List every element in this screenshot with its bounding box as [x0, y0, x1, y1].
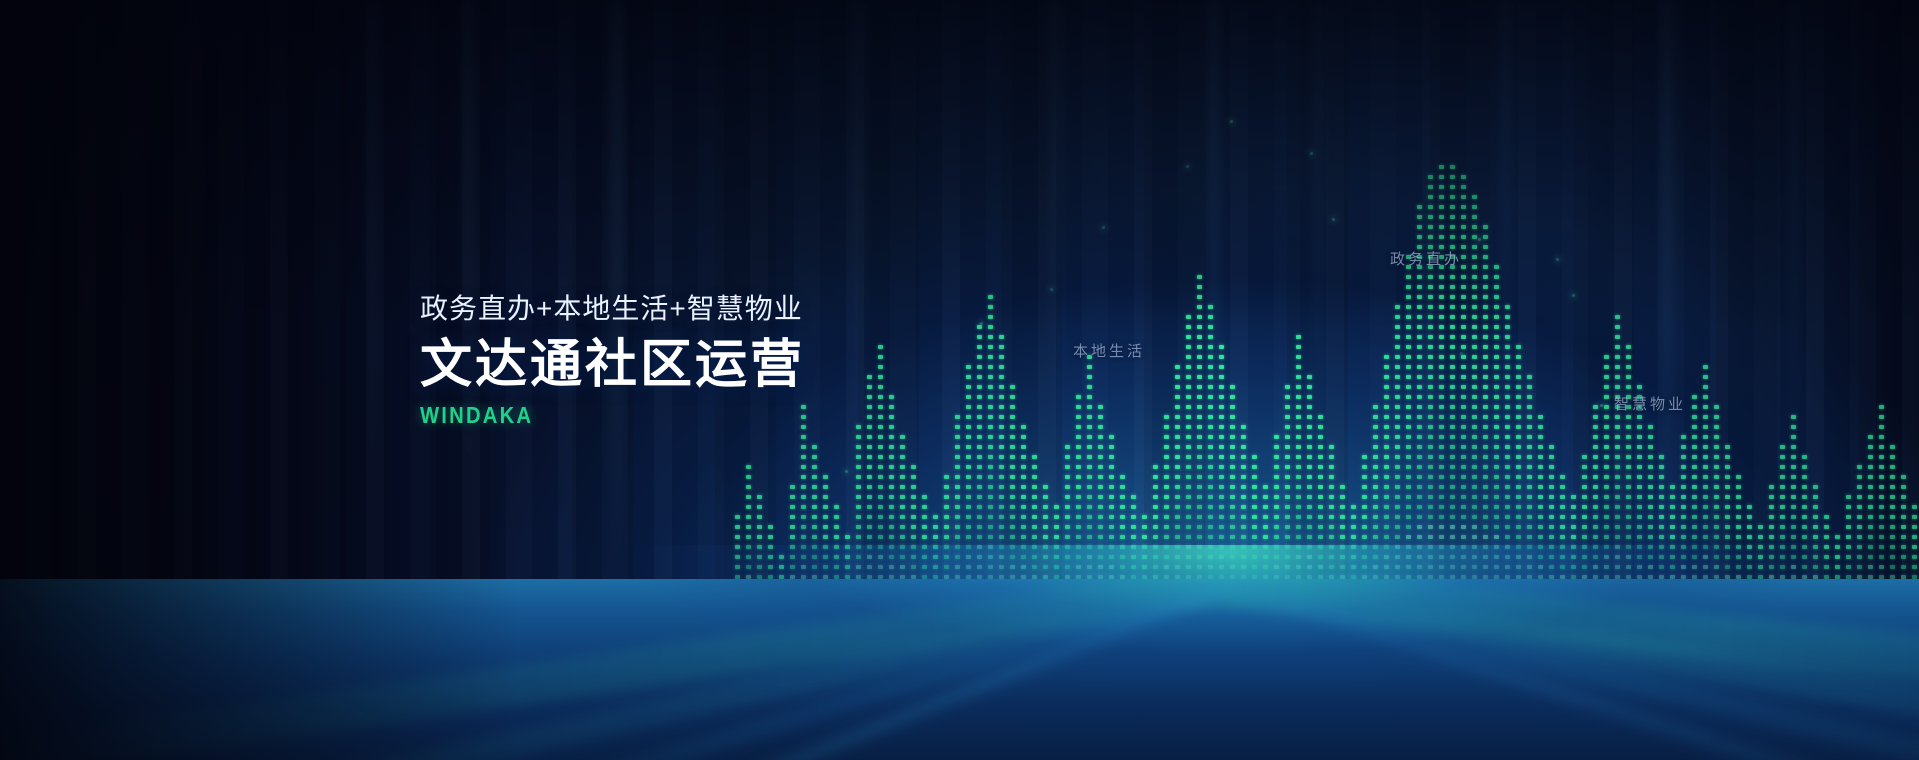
skyline-dot [1010, 475, 1015, 479]
skyline-column [911, 0, 916, 605]
skyline-dot [1604, 395, 1609, 399]
skyline-dot [1791, 515, 1796, 519]
skyline-dot [1846, 505, 1851, 509]
skyline-dot [1032, 515, 1037, 519]
skyline-dot [1439, 275, 1444, 279]
skyline-dot [856, 435, 861, 439]
skyline-dot [856, 465, 861, 469]
skyline-dot [1571, 505, 1576, 509]
skyline-dot [1670, 495, 1675, 499]
skyline-dot [1505, 445, 1510, 449]
skyline-dot [1439, 425, 1444, 429]
skyline-dot [1296, 425, 1301, 429]
skyline-dot [1604, 525, 1609, 529]
skyline-dot [867, 425, 872, 429]
skyline-dot [1065, 465, 1070, 469]
skyline-dot [1714, 445, 1719, 449]
skyline-dot [988, 505, 993, 509]
skyline-dot [1208, 355, 1213, 359]
skyline-dot [1780, 455, 1785, 459]
skyline-dot [1494, 375, 1499, 379]
skyline-column [1483, 0, 1488, 605]
skyline-dot [1846, 495, 1851, 499]
skyline-dot [1637, 415, 1642, 419]
skyline-dot [1472, 235, 1477, 239]
skyline-dot [1219, 375, 1224, 379]
skyline-dot [1098, 405, 1103, 409]
skyline-dot [1087, 375, 1092, 379]
skyline-dot [1164, 445, 1169, 449]
skyline-dot [1373, 525, 1378, 529]
skyline-dot [1802, 525, 1807, 529]
skyline-dot [1362, 485, 1367, 489]
skyline-dot [790, 525, 795, 529]
skyline-dot [1439, 385, 1444, 389]
skyline-dot [1538, 525, 1543, 529]
skyline-dot [900, 485, 905, 489]
skyline-dot [1505, 475, 1510, 479]
skyline-dot [1021, 515, 1026, 519]
skyline-dot [1461, 205, 1466, 209]
skyline-dot [1395, 315, 1400, 319]
skyline-dot [1197, 415, 1202, 419]
skyline-dot [1318, 525, 1323, 529]
skyline-dot [1296, 415, 1301, 419]
skyline-dot [1417, 515, 1422, 519]
skyline-dot [1197, 455, 1202, 459]
skyline-dot [1615, 315, 1620, 319]
skyline-dot [1428, 205, 1433, 209]
skyline-dot [1604, 405, 1609, 409]
skyline-dot [1428, 315, 1433, 319]
skyline-dot [1692, 475, 1697, 479]
skyline-dot [1714, 425, 1719, 429]
skyline-dot [1439, 525, 1444, 529]
skyline-dot [1461, 195, 1466, 199]
skyline-dot [1373, 495, 1378, 499]
skyline-dot [1703, 525, 1708, 529]
skyline-dot [1109, 435, 1114, 439]
skyline-dot [1428, 475, 1433, 479]
skyline-dot [1758, 525, 1763, 529]
skyline-dot [1461, 405, 1466, 409]
skyline-dot [1736, 475, 1741, 479]
skyline-dot [735, 535, 740, 539]
skyline-column [1758, 0, 1763, 605]
skyline-dot [1494, 475, 1499, 479]
skyline-dot [1428, 485, 1433, 489]
skyline-dot [1637, 475, 1642, 479]
skyline-dot [1417, 225, 1422, 229]
skyline-dot [1153, 465, 1158, 469]
skyline-dot [1197, 445, 1202, 449]
skyline-dot [1417, 485, 1422, 489]
skyline-dot [1197, 365, 1202, 369]
skyline-dot [812, 535, 817, 539]
skyline-dot [1901, 505, 1906, 509]
skyline-dot [1219, 385, 1224, 389]
sparkle-particle [1572, 294, 1575, 297]
skyline-dot [1208, 445, 1213, 449]
skyline-dot [1472, 525, 1477, 529]
skyline-dot [1571, 495, 1576, 499]
skyline-dot [1692, 425, 1697, 429]
skyline-dot [1890, 485, 1895, 489]
skyline-dot [1219, 405, 1224, 409]
skyline-dot [1406, 375, 1411, 379]
skyline-dot [878, 455, 883, 459]
skyline-dot [867, 525, 872, 529]
skyline-dot [1538, 475, 1543, 479]
skyline-column [1879, 0, 1884, 605]
skyline-dot [790, 485, 795, 489]
skyline-dot [1208, 485, 1213, 489]
skyline-dot [1879, 485, 1884, 489]
skyline-dot [1241, 485, 1246, 489]
skyline-column [812, 0, 817, 605]
skyline-dot [1417, 435, 1422, 439]
skyline-dot [1637, 385, 1642, 389]
skyline-dot [1318, 505, 1323, 509]
skyline-dot [1142, 525, 1147, 529]
skyline-dot [1802, 535, 1807, 539]
skyline-dot [1252, 485, 1257, 489]
skyline-dot [1439, 165, 1444, 169]
skyline-dot [1637, 515, 1642, 519]
skyline-dot [1406, 335, 1411, 339]
skyline-dot [1703, 505, 1708, 509]
skyline-column [1428, 0, 1433, 605]
skyline-dot [1483, 265, 1488, 269]
skyline-dot [1439, 365, 1444, 369]
skyline-dot [1384, 495, 1389, 499]
skyline-dot [1780, 495, 1785, 499]
skyline-dot [1197, 435, 1202, 439]
skyline-column [1538, 0, 1543, 605]
floor-horizon-glow [0, 545, 1919, 760]
skyline-dot [856, 505, 861, 509]
skyline-dot [1626, 515, 1631, 519]
dot-skyline-chart [0, 0, 1919, 640]
skyline-dot [1472, 475, 1477, 479]
skyline-dot [1252, 475, 1257, 479]
skyline-dot [1219, 415, 1224, 419]
skyline-dot [1087, 525, 1092, 529]
skyline-dot [1197, 515, 1202, 519]
skyline-dot [1494, 305, 1499, 309]
skyline-dot [823, 525, 828, 529]
skyline-column [1604, 0, 1609, 605]
skyline-dot [1384, 475, 1389, 479]
skyline-dot [1120, 495, 1125, 499]
skyline-dot [1384, 485, 1389, 489]
skyline-dot [1879, 405, 1884, 409]
skyline-dot [1307, 465, 1312, 469]
skyline-dot [1395, 535, 1400, 539]
skyline-dot [1472, 385, 1477, 389]
skyline-dot [1747, 525, 1752, 529]
skyline-dot [1560, 485, 1565, 489]
skyline-dot [1648, 455, 1653, 459]
skyline-dot [1230, 475, 1235, 479]
skyline-dot [1593, 415, 1598, 419]
skyline-dot [1472, 275, 1477, 279]
skyline-dot [1142, 535, 1147, 539]
skyline-dot [1164, 455, 1169, 459]
skyline-dot [1505, 485, 1510, 489]
skyline-dot [1010, 395, 1015, 399]
skyline-dot [1296, 385, 1301, 389]
skyline-dot [1362, 455, 1367, 459]
skyline-column [834, 0, 839, 605]
skyline-dot [1450, 515, 1455, 519]
skyline-dot [1318, 475, 1323, 479]
skyline-dot [1307, 415, 1312, 419]
skyline-dot [1230, 425, 1235, 429]
skyline-column [1384, 0, 1389, 605]
skyline-dot [911, 535, 916, 539]
skyline-dot [1461, 275, 1466, 279]
skyline-dot [1857, 485, 1862, 489]
sparkle-particle [1478, 238, 1481, 241]
skyline-dot [1472, 515, 1477, 519]
skyline-dot [1395, 435, 1400, 439]
skyline-dot [911, 495, 916, 499]
skyline-dot [1692, 505, 1697, 509]
skyline-column [867, 0, 872, 605]
skyline-dot [1307, 405, 1312, 409]
skyline-dot [801, 495, 806, 499]
skyline-dot [966, 445, 971, 449]
skyline-dot [1395, 475, 1400, 479]
skyline-dot [999, 385, 1004, 389]
skyline-dot [1186, 475, 1191, 479]
skyline-dot [1296, 505, 1301, 509]
skyline-dot [1615, 475, 1620, 479]
skyline-dot [1450, 385, 1455, 389]
hero-headline: 文达通社区运营 [420, 336, 805, 394]
skyline-dot [1879, 425, 1884, 429]
sparkle-particle [980, 322, 983, 325]
skyline-column [1307, 0, 1312, 605]
skyline-dot [1076, 415, 1081, 419]
skyline-dot [1406, 535, 1411, 539]
skyline-dot [1670, 525, 1675, 529]
skyline-dot [1362, 515, 1367, 519]
skyline-dot [1043, 495, 1048, 499]
skyline-dot [1318, 415, 1323, 419]
sparkle-particle [1600, 404, 1603, 407]
skyline-dot [1714, 515, 1719, 519]
skyline-dot [1351, 535, 1356, 539]
skyline-dot [1120, 505, 1125, 509]
skyline-dot [1219, 395, 1224, 399]
skyline-dot [1241, 425, 1246, 429]
skyline-dot [1021, 505, 1026, 509]
skyline-dot [1736, 525, 1741, 529]
skyline-dot [1197, 335, 1202, 339]
skyline-dot [1879, 525, 1884, 529]
skyline-dot [1010, 455, 1015, 459]
skyline-dot [1681, 505, 1686, 509]
skyline-dot [1461, 175, 1466, 179]
skyline-dot [1571, 525, 1576, 529]
skyline-dot [1043, 535, 1048, 539]
skyline-dot [1208, 305, 1213, 309]
skyline-dot [900, 435, 905, 439]
skyline-dot [845, 535, 850, 539]
skyline-dot [988, 355, 993, 359]
skyline-dot [1428, 365, 1433, 369]
skyline-dot [1219, 455, 1224, 459]
skyline-dot [1483, 485, 1488, 489]
skyline-dot [944, 535, 949, 539]
skyline-dot [955, 535, 960, 539]
skyline-dot [1549, 525, 1554, 529]
skyline-dot [999, 425, 1004, 429]
skyline-dot [1076, 445, 1081, 449]
skyline-column [1835, 0, 1840, 605]
skyline-dot [1604, 485, 1609, 489]
skyline-dot [1439, 485, 1444, 489]
skyline-dot [1417, 495, 1422, 499]
skyline-dot [1395, 325, 1400, 329]
skyline-dot [1681, 445, 1686, 449]
skyline-dot [1604, 365, 1609, 369]
skyline-dot [988, 455, 993, 459]
skyline-dot [1615, 325, 1620, 329]
skyline-dot [1164, 465, 1169, 469]
skyline-dot [1527, 385, 1532, 389]
skyline-dot [1450, 505, 1455, 509]
skyline-dot [1802, 455, 1807, 459]
skyline-dot [1450, 335, 1455, 339]
skyline-dot [867, 465, 872, 469]
skyline-dot [1681, 465, 1686, 469]
skyline-dot [1417, 505, 1422, 509]
skyline-dot [1560, 535, 1565, 539]
skyline-dot [889, 475, 894, 479]
skyline-dot [1890, 495, 1895, 499]
skyline-column [1252, 0, 1257, 605]
skyline-dot [1439, 205, 1444, 209]
skyline-dot [1274, 435, 1279, 439]
skyline-dot [1626, 365, 1631, 369]
skyline-dot [1285, 445, 1290, 449]
skyline-dot [1230, 445, 1235, 449]
skyline-dot [1384, 455, 1389, 459]
skyline-dot [977, 365, 982, 369]
skyline-dot [1208, 435, 1213, 439]
skyline-dot [1318, 515, 1323, 519]
skyline-dot [1461, 215, 1466, 219]
skyline-dot [1197, 325, 1202, 329]
skyline-dot [1483, 325, 1488, 329]
skyline-dot [1395, 365, 1400, 369]
skyline-dot [1527, 415, 1532, 419]
skyline-dot [1615, 335, 1620, 339]
skyline-dot [1648, 525, 1653, 529]
skyline-dot [1252, 495, 1257, 499]
skyline-dot [1868, 475, 1873, 479]
skyline-dot [1065, 495, 1070, 499]
skyline-dot [1516, 375, 1521, 379]
skyline-dot [1428, 185, 1433, 189]
skyline-dot [1406, 365, 1411, 369]
skyline-dot [1483, 455, 1488, 459]
skyline-dot [1483, 255, 1488, 259]
skyline-dot [801, 475, 806, 479]
skyline-dot [1076, 405, 1081, 409]
skyline-dot [1406, 505, 1411, 509]
skyline-dot [966, 385, 971, 389]
skyline-dot [812, 455, 817, 459]
skyline-dot [1703, 375, 1708, 379]
skyline-dot [1395, 505, 1400, 509]
skyline-dot [1395, 515, 1400, 519]
skyline-dot [1010, 525, 1015, 529]
skyline-dot [1835, 535, 1840, 539]
skyline-dot [900, 445, 905, 449]
sparkle-particle [1408, 316, 1411, 319]
skyline-dot [878, 375, 883, 379]
skyline-dot [1285, 525, 1290, 529]
skyline-dot [1516, 435, 1521, 439]
skyline-dot [1472, 395, 1477, 399]
skyline-dot [801, 515, 806, 519]
skyline-dot [878, 445, 883, 449]
skyline-dot [1626, 495, 1631, 499]
skyline-dot [1296, 495, 1301, 499]
skyline-dot [1373, 415, 1378, 419]
skyline-dot [1307, 515, 1312, 519]
skyline-dot [999, 535, 1004, 539]
skyline-dot [1461, 485, 1466, 489]
skyline-dot [1692, 435, 1697, 439]
skyline-dot [746, 495, 751, 499]
skyline-dot [1263, 515, 1268, 519]
skyline-dot [1428, 515, 1433, 519]
skyline-column [1439, 0, 1444, 605]
skyline-dot [1472, 325, 1477, 329]
skyline-dot [1527, 425, 1532, 429]
skyline-dot [1494, 355, 1499, 359]
skyline-dot [1219, 495, 1224, 499]
skyline-dot [1010, 385, 1015, 389]
skyline-dot [1659, 535, 1664, 539]
skyline-dot [1340, 515, 1345, 519]
skyline-dot [1846, 535, 1851, 539]
skyline-dot [1285, 505, 1290, 509]
skyline-dot [1615, 485, 1620, 489]
skyline-dot [1791, 465, 1796, 469]
skyline-dot [1318, 455, 1323, 459]
skyline-dot [1010, 425, 1015, 429]
skyline-dot [1659, 465, 1664, 469]
skyline-dot [1307, 505, 1312, 509]
skyline-dot [1450, 495, 1455, 499]
skyline-dot [1538, 415, 1543, 419]
skyline-dot [1483, 415, 1488, 419]
skyline-dot [1406, 355, 1411, 359]
skyline-column [1373, 0, 1378, 605]
skyline-column [878, 0, 883, 605]
skyline-dot [1406, 285, 1411, 289]
skyline-dot [1186, 315, 1191, 319]
skyline-dot [1472, 305, 1477, 309]
skyline-dot [1582, 495, 1587, 499]
skyline-dot [1164, 475, 1169, 479]
